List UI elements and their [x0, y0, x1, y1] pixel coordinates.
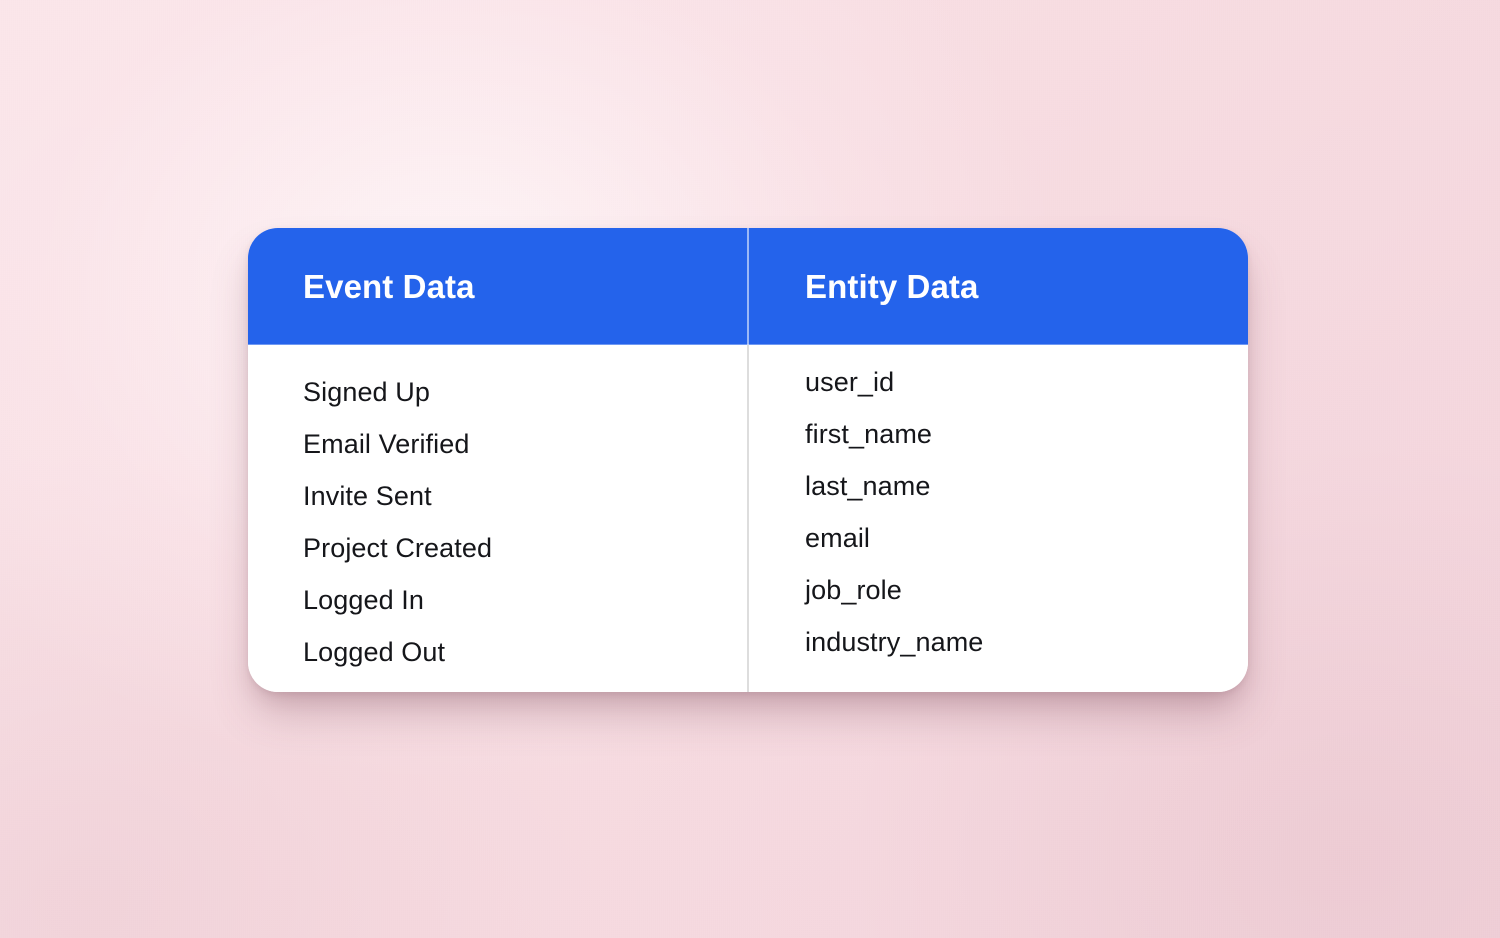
column-event-data: Signed Up Email Verified Invite Sent Pro…: [248, 345, 748, 692]
card-header: Event Data Entity Data: [248, 228, 1248, 345]
list-item: Invite Sent: [303, 470, 748, 522]
body-column-divider: [747, 345, 749, 692]
header-cell-event-data: Event Data: [248, 228, 748, 345]
entity-data-list: user_id first_name last_name email job_r…: [805, 356, 1248, 668]
list-item: last_name: [805, 460, 1248, 512]
list-item: first_name: [805, 408, 1248, 460]
list-item: Logged Out: [303, 626, 748, 678]
list-item: job_role: [805, 564, 1248, 616]
page-canvas: Event Data Entity Data Signed Up Email V…: [0, 0, 1500, 938]
list-item: user_id: [805, 356, 1248, 408]
list-item: Project Created: [303, 522, 748, 574]
column-title-event-data: Event Data: [303, 270, 475, 303]
list-item: industry_name: [805, 616, 1248, 668]
list-item: Signed Up: [303, 366, 748, 418]
list-item: Logged In: [303, 574, 748, 626]
event-data-list: Signed Up Email Verified Invite Sent Pro…: [303, 366, 748, 678]
header-cell-entity-data: Entity Data: [748, 228, 1248, 345]
list-item: email: [805, 512, 1248, 564]
card-body: Signed Up Email Verified Invite Sent Pro…: [248, 345, 1248, 692]
list-item: Email Verified: [303, 418, 748, 470]
column-entity-data: user_id first_name last_name email job_r…: [748, 345, 1248, 692]
header-column-divider: [747, 228, 749, 345]
column-title-entity-data: Entity Data: [805, 270, 978, 303]
data-comparison-card: Event Data Entity Data Signed Up Email V…: [248, 228, 1248, 692]
